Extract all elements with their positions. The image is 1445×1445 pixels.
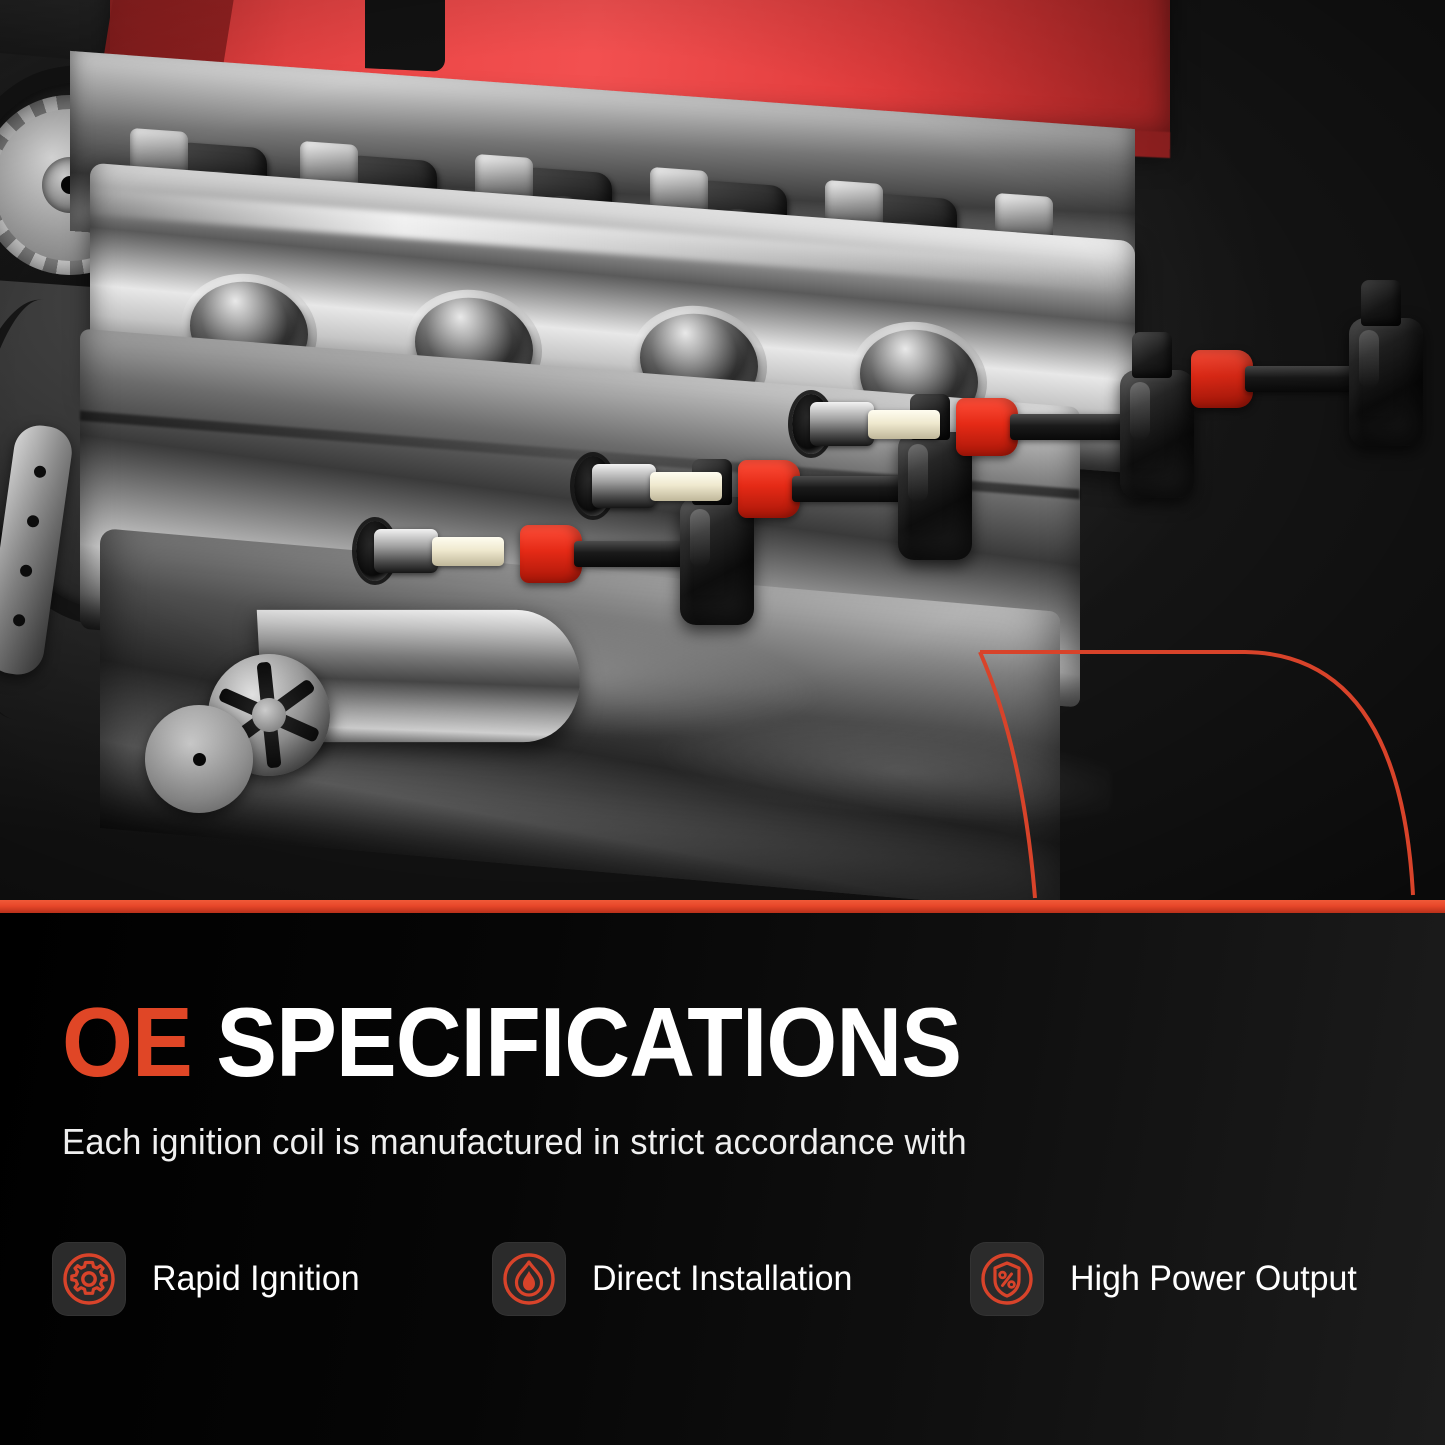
gear-in-circle-icon (61, 1251, 117, 1307)
feature-badge-row: Rapid Ignition Direct Installation (52, 1231, 1412, 1327)
page-title: OE SPECIFICATIONS (62, 993, 961, 1091)
feature-badge-rapid-ignition[interactable]: Rapid Ignition (52, 1231, 492, 1327)
panel-subtitle: Each ignition coil is manufactured in st… (62, 1121, 967, 1163)
feature-icon-box (52, 1242, 126, 1316)
feature-label: Direct Installation (592, 1259, 852, 1299)
flame-in-circle-icon (501, 1251, 557, 1307)
feature-badge-direct-installation[interactable]: Direct Installation (492, 1231, 970, 1327)
shield-percent-in-circle-icon (979, 1251, 1035, 1307)
feature-label: High Power Output (1070, 1259, 1357, 1299)
product-feature-poster: OE SPECIFICATIONS Each ignition coil is … (0, 0, 1445, 1445)
title-accent-word: OE (62, 987, 192, 1097)
hero-engine-photo (0, 0, 1445, 900)
orange-divider-bar (0, 900, 1445, 913)
orange-curve-decoration (945, 640, 1445, 900)
title-main-word: SPECIFICATIONS (192, 987, 961, 1097)
feature-icon-box (970, 1242, 1044, 1316)
feature-badge-high-power-output[interactable]: High Power Output (970, 1231, 1410, 1327)
feature-icon-box (492, 1242, 566, 1316)
specifications-panel: OE SPECIFICATIONS Each ignition coil is … (0, 913, 1445, 1445)
feature-label: Rapid Ignition (152, 1259, 360, 1299)
